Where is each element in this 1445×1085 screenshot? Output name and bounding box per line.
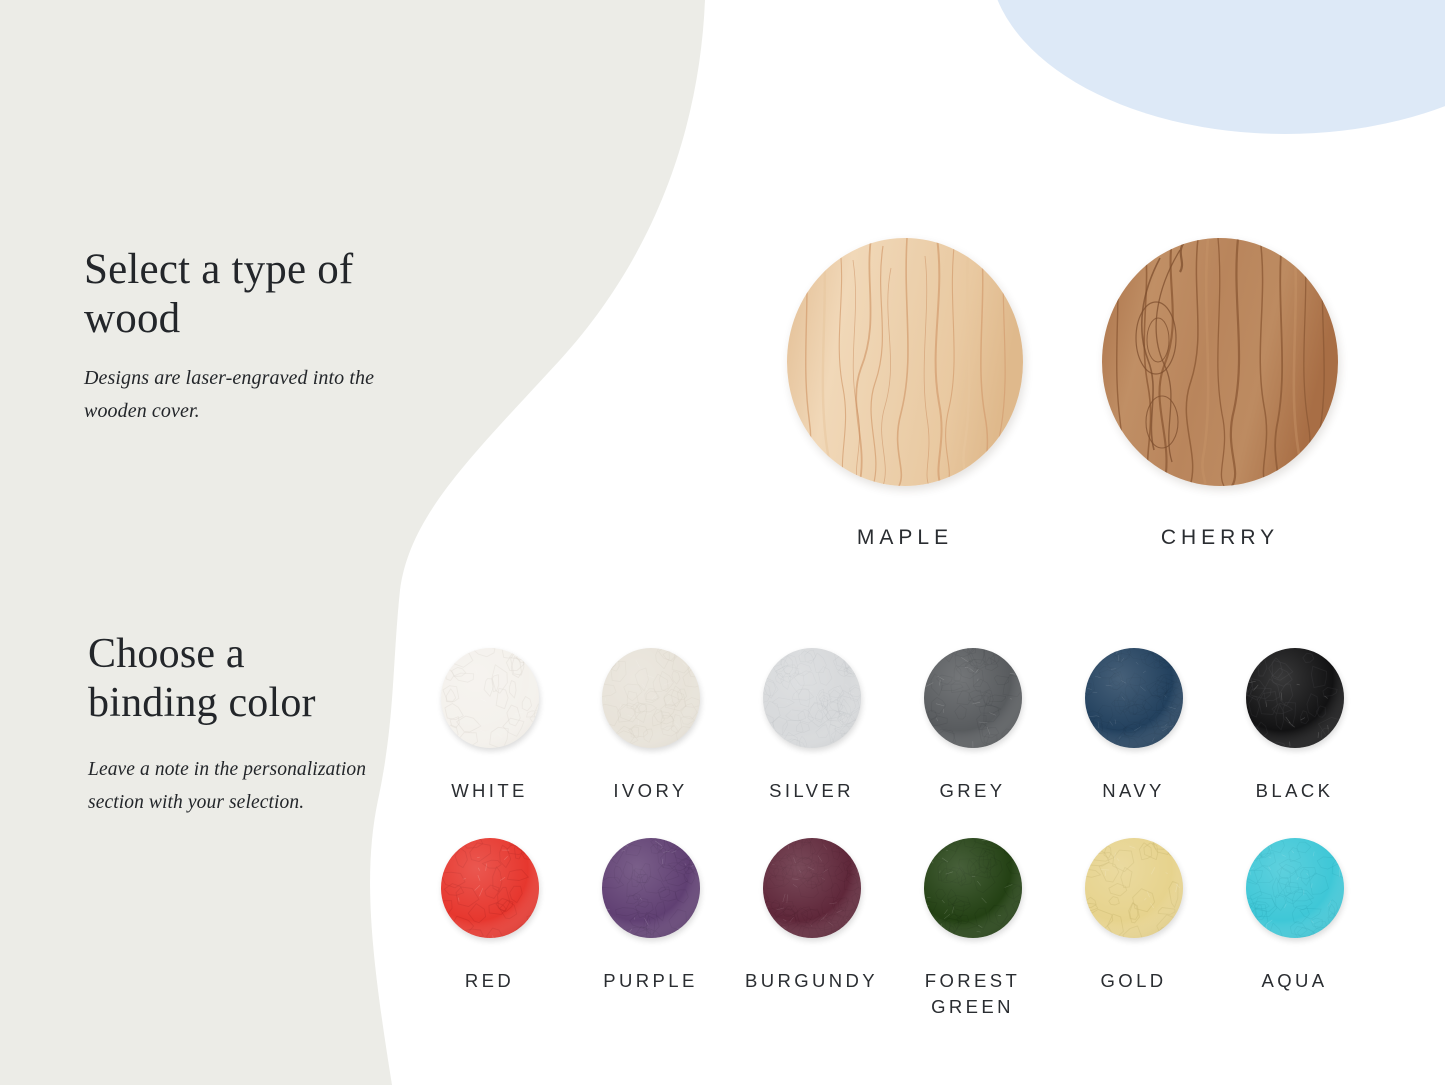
pebble-texture [924,648,1022,748]
color-label: PURPLE [570,968,731,994]
color-label: BURGUNDY [731,968,892,994]
pebble-texture [602,838,700,938]
leather-swatch-disc[interactable] [1246,838,1344,938]
color-label: BLACK [1214,778,1375,804]
color-option-white[interactable]: WHITE [409,640,570,830]
leather-swatch-disc[interactable] [763,648,861,748]
color-label: RED [409,968,570,994]
cherry-swatch-disc[interactable] [1102,238,1338,486]
binding-heading-line-1: Choose a [88,631,245,677]
wood-section-text: Select a type of wood Designs are laser-… [84,246,414,427]
maple-label: MAPLE [785,526,1025,550]
color-label: IVORY [570,778,731,804]
maple-grain-texture [787,238,1023,486]
wood-option-maple[interactable]: MAPLE [785,238,1025,550]
leather-swatch-disc[interactable] [1246,648,1344,748]
leather-swatch-disc[interactable] [1085,838,1183,938]
color-label: GREY [892,778,1053,804]
crackle-texture [1246,648,1344,748]
wood-subtext: Designs are laser-engraved into the wood… [84,362,414,427]
fine-pebble-texture [763,648,861,748]
binding-heading-line-2: binding color [88,680,316,726]
cherry-grain-texture [1102,238,1338,486]
product-options-graphic: Select a type of wood Designs are laser-… [0,0,1445,1085]
color-option-aqua[interactable]: AQUA [1214,830,1375,1020]
binding-subtext: Leave a note in the personalization sect… [88,754,388,819]
binding-heading: Choose a binding color [88,630,388,728]
color-option-navy[interactable]: NAVY [1053,640,1214,830]
wood-swatch-row: MAPLE [770,238,1370,558]
color-label: AQUA [1214,968,1375,994]
crackle-texture [1085,838,1183,938]
text-column: Select a type of wood Designs are laser-… [0,0,420,1085]
leather-swatch-disc[interactable] [602,648,700,748]
crackle-texture [441,838,539,938]
color-label: WHITE [409,778,570,804]
leather-swatch-disc[interactable] [441,648,539,748]
fine-pebble-texture [763,838,861,938]
pebble-texture [602,648,700,748]
leather-swatch-disc[interactable] [763,838,861,938]
binding-color-grid: WHITEIVORYSILVERGREYNAVYBLACKREDPURPLEBU… [409,640,1379,1020]
color-option-purple[interactable]: PURPLE [570,830,731,1020]
blue-blob-shape [989,0,1445,134]
wood-heading: Select a type of wood [84,246,414,343]
color-label: NAVY [1053,778,1214,804]
binding-section-text: Choose a binding color Leave a note in t… [88,630,388,819]
leather-swatch-disc[interactable] [924,648,1022,748]
cherry-label: CHERRY [1100,526,1340,550]
crackle-texture [441,648,539,748]
leather-swatch-disc[interactable] [602,838,700,938]
leather-swatch-disc[interactable] [441,838,539,938]
pebble-texture [1246,838,1344,938]
pebble-texture [924,838,1022,938]
wood-option-cherry[interactable]: CHERRY [1100,238,1340,550]
color-label: FOREST GREEN [892,968,1053,1019]
fine-pebble-texture [1085,648,1183,748]
color-option-grey[interactable]: GREY [892,640,1053,830]
color-option-red[interactable]: RED [409,830,570,1020]
color-option-black[interactable]: BLACK [1214,640,1375,830]
color-option-burgundy[interactable]: BURGUNDY [731,830,892,1020]
color-option-gold[interactable]: GOLD [1053,830,1214,1020]
color-option-forest-green[interactable]: FOREST GREEN [892,830,1053,1020]
color-option-silver[interactable]: SILVER [731,640,892,830]
leather-swatch-disc[interactable] [1085,648,1183,748]
maple-swatch-disc[interactable] [787,238,1023,486]
color-label: GOLD [1053,968,1214,994]
color-option-ivory[interactable]: IVORY [570,640,731,830]
leather-swatch-disc[interactable] [924,838,1022,938]
color-label: SILVER [731,778,892,804]
